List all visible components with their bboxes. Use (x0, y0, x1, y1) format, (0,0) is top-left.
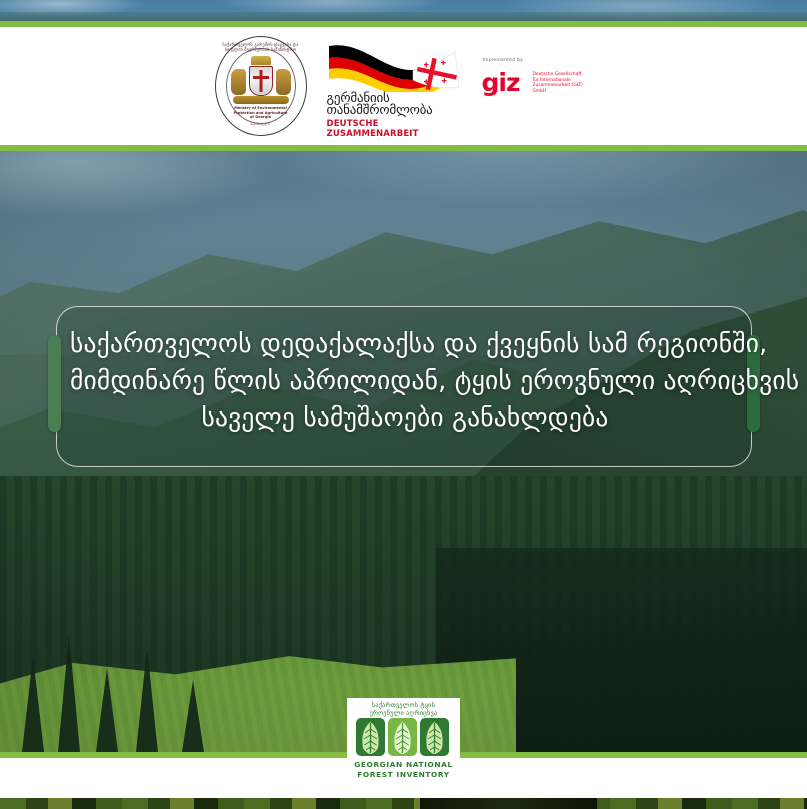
german-coop-ka-line-2: თანამშრომლობა (327, 104, 447, 118)
german-georgian-flag-ribbon-icon (325, 40, 463, 92)
top-strip-ridge (0, 12, 807, 21)
gnfi-en-line-1: GEORGIAN NATIONAL (354, 760, 453, 769)
poster-root: საქართველოს გარემოს დაცვისა და სოფლის მე… (0, 0, 807, 809)
german-cooperation-logo: გერმანიის თანამშრომლობა DEUTSCHE ZUSAMME… (325, 40, 463, 132)
giz-full-name: Deutsche Gesellschaft für Internationale… (533, 72, 593, 94)
giz-name-line-1: Deutsche Gesellschaft (533, 72, 582, 77)
seal-english-name: Ministry of Environmental Protection and… (223, 106, 299, 120)
bottom-photo-strip (0, 798, 807, 809)
seal-en-line-3: of Georgia (250, 115, 271, 119)
giz-name-line-3: Zusammenarbeit (GIZ) GmbH (533, 83, 583, 94)
seal-lion-right-icon (276, 69, 291, 95)
giz-implemented-by-label: Implemented by (483, 58, 524, 63)
seal-en-line-1: Ministry of Environmental (234, 106, 287, 110)
seal-subtitle: საქართველო (215, 122, 307, 126)
leaf-icon-1 (356, 718, 385, 756)
seal-crown-icon (251, 56, 271, 65)
giz-wordmark: giz (482, 70, 520, 95)
german-coop-de-line: DEUTSCHE ZUSAMMENARBEIT (327, 119, 457, 139)
seal-lion-left-icon (231, 69, 246, 95)
bottom-strip-shadow (420, 798, 598, 809)
headline-text: საქართველოს დედაქალაქსა და ქვეყნის სამ რ… (70, 326, 740, 437)
gnfi-english-name: GEORGIAN NATIONAL FOREST INVENTORY (347, 760, 460, 779)
gnfi-ka-line-2: ეროვნული აღრიცხვა (370, 710, 438, 718)
gnfi-en-line-2: FOREST INVENTORY (357, 770, 449, 779)
headline-accent-bar-left (48, 335, 61, 432)
seal-cross-vertical (259, 70, 262, 92)
top-sky-strip (0, 0, 807, 21)
seal-ribbon (233, 96, 289, 104)
seal-shield-icon (249, 66, 273, 96)
headline-line-2: მიმდინარე წლის აპრილიდან, ტყის ეროვნული … (70, 363, 740, 400)
ministry-seal-logo: საქართველოს გარემოს დაცვისა და სოფლის მე… (215, 36, 307, 136)
giz-name-line-2: für Internationale (533, 78, 571, 83)
headline-line-1: საქართველოს დედაქალაქსა და ქვეყნის სამ რ… (70, 326, 740, 363)
seal-en-line-2: Protection and Agriculture (234, 111, 288, 115)
gnfi-leaf-group (356, 718, 451, 756)
seal-cross-horizontal (253, 76, 269, 79)
seal-georgian-arc-text: საქართველოს გარემოს დაცვისა და სოფლის მე… (215, 42, 307, 52)
gnfi-ka-line-1: საქართველოს ტყის (372, 702, 435, 710)
gnfi-logo: საქართველოს ტყის ეროვნული აღრიცხვა (347, 698, 460, 786)
giz-logo: Implemented by giz Deutsche Gesellschaft… (481, 58, 593, 114)
headline-line-3: საველე სამუშაოები განახლდება (70, 400, 740, 437)
leaf-icon-2 (388, 718, 417, 756)
header-logo-band: საქართველოს გარემოს დაცვისა და სოფლის მე… (0, 27, 807, 145)
leaf-icon-3 (420, 718, 449, 756)
